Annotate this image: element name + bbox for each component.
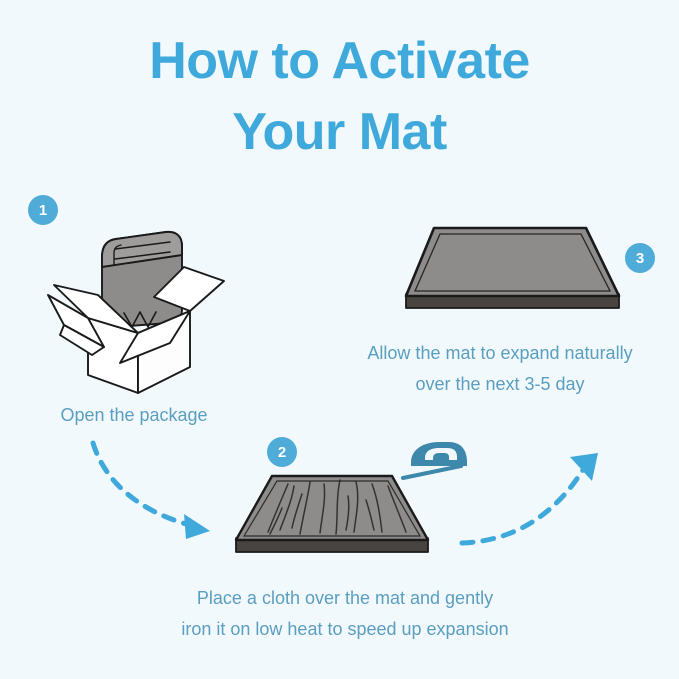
- page-title: How to Activate Your Mat: [0, 26, 679, 167]
- arrow-step1-to-step2: [88, 438, 248, 553]
- open-box-with-rolled-mat-icon: [42, 215, 232, 395]
- step-3-caption: Allow the mat to expand naturally over t…: [320, 338, 679, 400]
- step-3-number: 3: [636, 251, 644, 266]
- arrow-step2-to-step3: [458, 443, 618, 558]
- step-1-caption: Open the package: [0, 400, 268, 431]
- step-2-number: 2: [278, 445, 286, 460]
- step-2-badge: 2: [267, 437, 297, 467]
- title-line-1: How to Activate: [0, 26, 679, 97]
- title-line-2: Your Mat: [0, 97, 679, 168]
- step-3-badge: 3: [625, 243, 655, 273]
- step-2-caption-line-2: iron it on low heat to speed up expansio…: [110, 614, 580, 645]
- infographic-root: How to Activate Your Mat 1: [0, 0, 679, 679]
- flat-expanded-mat-icon: [400, 222, 625, 322]
- step-1-caption-line: Open the package: [0, 400, 268, 431]
- wrinkled-mat-icon: [232, 470, 432, 565]
- step-3-caption-line-1: Allow the mat to expand naturally: [320, 338, 679, 369]
- step-3-caption-line-2: over the next 3-5 day: [320, 369, 679, 400]
- step-2-caption-line-1: Place a cloth over the mat and gently: [110, 583, 580, 614]
- step-2-caption: Place a cloth over the mat and gently ir…: [110, 583, 580, 645]
